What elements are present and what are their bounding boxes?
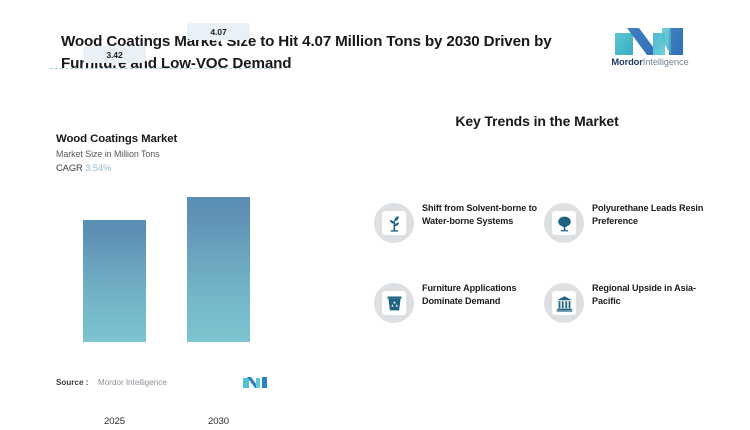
- trend-icon-badge: [374, 203, 414, 243]
- trend-label: Polyurethane Leads Resin Preference: [592, 202, 710, 229]
- bar-2025: [83, 220, 146, 342]
- trend-icon-badge: [374, 283, 414, 323]
- mordor-m-logo-icon: [613, 26, 687, 56]
- cagr-value: 3.54%: [85, 163, 111, 173]
- bar-value-label-2025: 3.42: [83, 46, 146, 63]
- chart-title: Wood Coatings Market: [56, 133, 177, 145]
- chart-card: Wood Coatings Market Market Size in Mill…: [38, 118, 293, 396]
- reference-line: [50, 68, 282, 69]
- trends-title: Key Trends in the Market: [374, 113, 700, 129]
- trend-label: Regional Upside in Asia-Pacific: [592, 282, 710, 309]
- chart-cagr: CAGR 3.54%: [56, 163, 111, 173]
- bar-2030: [187, 197, 250, 342]
- cagr-label: CAGR: [56, 163, 83, 173]
- trend-label: Furniture Applications Dominate Demand: [422, 282, 540, 309]
- tree-icon: [552, 211, 576, 235]
- x-axis-label-2030: 2030: [187, 416, 250, 427]
- plant-sprout-icon: [382, 211, 406, 235]
- chart-subtitle: Market Size in Million Tons: [56, 149, 160, 159]
- brand-name-light: Intelligence: [643, 57, 689, 67]
- trend-item: Furniture Applications Dominate Demand: [366, 277, 544, 357]
- bar-chart-plot: 3.42 4.07 2025 2030: [38, 180, 293, 352]
- bank-building-icon: [552, 291, 576, 315]
- trend-icon-badge: [544, 283, 584, 323]
- trend-label: Shift from Solvent-borne to Water-borne …: [422, 202, 540, 229]
- bar-value-label-2030: 4.07: [187, 23, 250, 40]
- brand-name-bold: Mordor: [611, 57, 642, 67]
- chart-source: Source : Mordor Intelligence: [56, 376, 281, 392]
- trend-item: Regional Upside in Asia-Pacific: [536, 277, 714, 357]
- trend-icon-badge: [544, 203, 584, 243]
- mordor-m-logo-icon: [242, 376, 268, 389]
- source-value: Mordor Intelligence: [98, 378, 167, 387]
- brand-logo: MordorIntelligence: [604, 26, 696, 74]
- x-axis-label-2025: 2025: [83, 416, 146, 427]
- source-label: Source :: [56, 378, 88, 387]
- trend-item: Shift from Solvent-borne to Water-borne …: [366, 197, 544, 277]
- trend-item: Polyurethane Leads Resin Preference: [536, 197, 714, 277]
- brand-wordmark: MordorIntelligence: [604, 57, 696, 68]
- recycle-bin-icon: [382, 291, 406, 315]
- key-trends-panel: Key Trends in the Market Shift from Solv…: [356, 105, 718, 365]
